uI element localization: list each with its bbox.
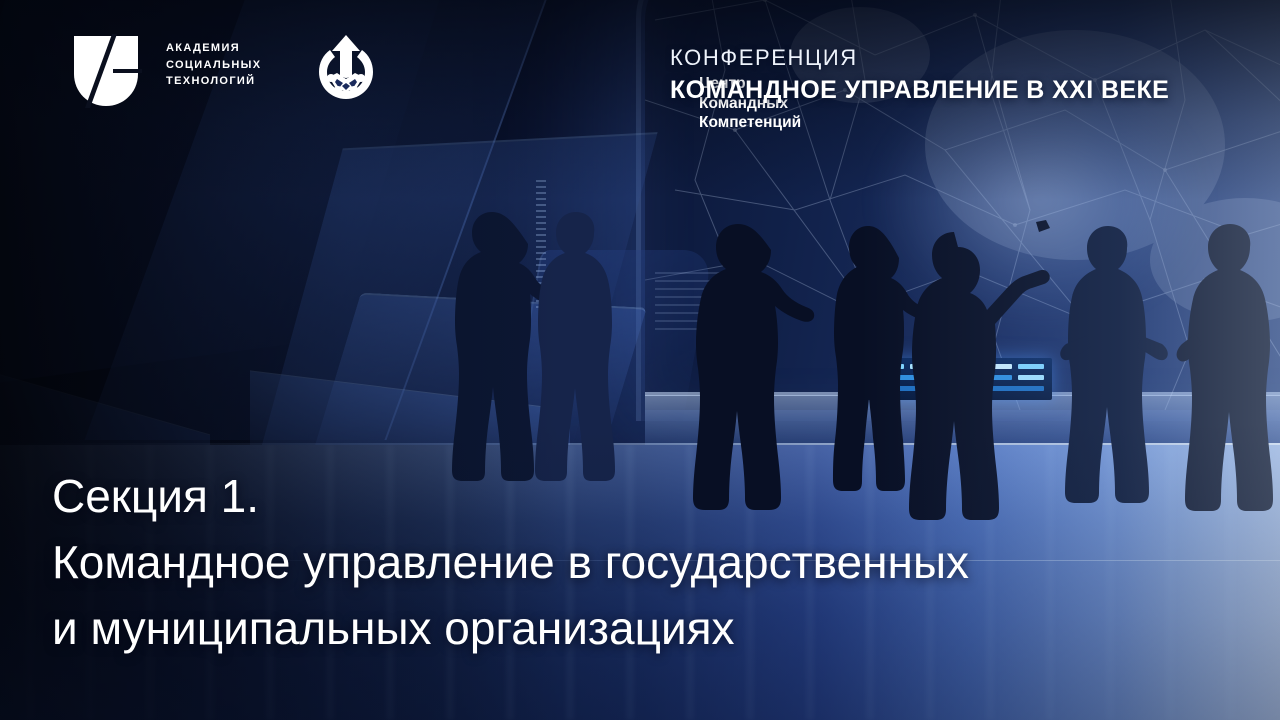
shield-slash-logo-icon (70, 34, 142, 108)
section-title: Секция 1. Командное управление в государ… (52, 463, 1242, 661)
section-title-line: Секция 1. (52, 463, 1242, 529)
conference-title: КОМАНДНОЕ УПРАВЛЕНИЕ В XXI ВЕКЕ (670, 75, 1169, 105)
circle-arrow-network-logo-icon (313, 33, 379, 105)
logo-academy-line: ТЕХНОЛОГИЙ (166, 73, 261, 90)
logo-academy-line: АКАДЕМИЯ (166, 40, 261, 57)
logo-academy-text: АКАДЕМИЯ СОЦИАЛЬНЫХ ТЕХНОЛОГИЙ (166, 40, 261, 90)
logo-academy-line: СОЦИАЛЬНЫХ (166, 57, 261, 74)
logo-center-line: Компетенций (699, 113, 801, 133)
logo-bar: АКАДЕМИЯ СОЦИАЛЬНЫХ ТЕХНОЛОГИЙ (0, 0, 560, 140)
conference-header: КОНФЕРЕНЦИЯ КОМАНДНОЕ УПРАВЛЕНИЕ В XXI В… (670, 45, 1169, 105)
logo-academy: АКАДЕМИЯ СОЦИАЛЬНЫХ ТЕХНОЛОГИЙ (70, 34, 142, 108)
section-title-line: Командное управление в государственных (52, 529, 1242, 595)
presentation-slide: АКАДЕМИЯ СОЦИАЛЬНЫХ ТЕХНОЛОГИЙ (0, 0, 1280, 720)
conference-kicker: КОНФЕРЕНЦИЯ (670, 45, 1169, 71)
section-title-line: и муниципальных организациях (52, 595, 1242, 661)
logo-center: Центр Командных Компетенций (313, 33, 379, 105)
